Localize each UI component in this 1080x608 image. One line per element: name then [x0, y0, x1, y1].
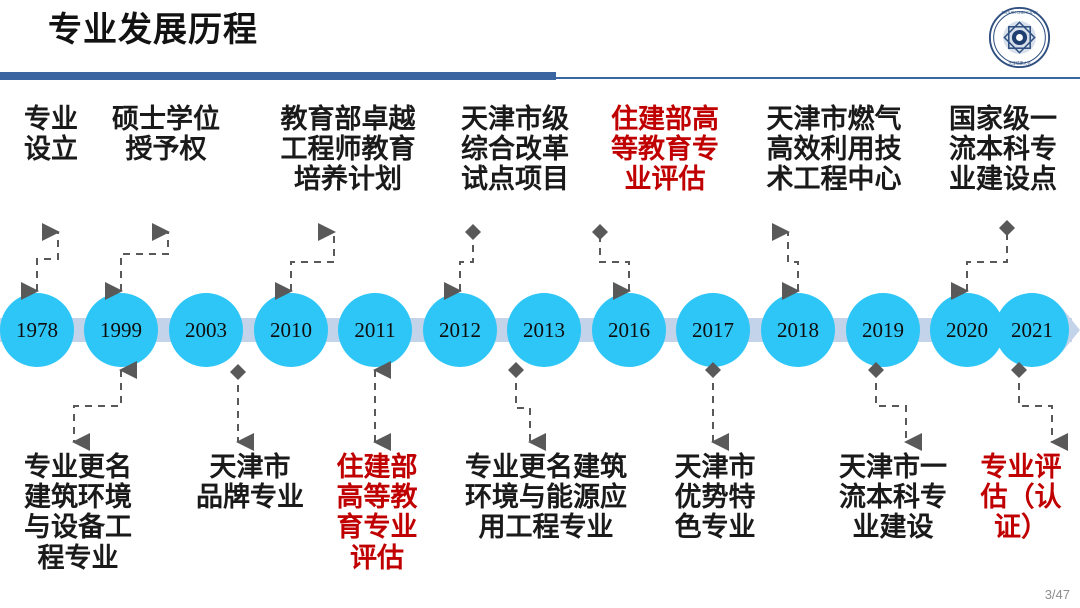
- label-2018-top: 天津市燃气 高效利用技 术工程中心: [748, 104, 920, 195]
- label-1999-top: 硕士学位 授予权: [96, 104, 236, 164]
- year-label-2013[interactable]: 2013: [504, 320, 584, 341]
- page-number: 3/47: [1045, 587, 1070, 602]
- connector-top-2010: [291, 232, 334, 291]
- label-1978-top: 专业 设立: [6, 104, 96, 164]
- connector-bottom-1999: [74, 370, 121, 442]
- year-label-2021[interactable]: 2021: [992, 320, 1072, 341]
- title-divider-thin: [556, 77, 1080, 79]
- timeline-circles: [0, 293, 1069, 367]
- label-2011-bottom: 住建部 高等教 育专业 评估: [326, 452, 428, 573]
- slide-canvas: 专业发展历程 TIANJIN CHENGJIAN 天津城建大学 3/47: [0, 0, 1080, 608]
- connector-top-1999: [121, 232, 168, 291]
- node-circle-2012: [423, 293, 497, 367]
- university-seal-logo: TIANJIN CHENGJIAN 天津城建大学: [988, 6, 1051, 69]
- svg-text:TIANJIN CHENGJIAN: TIANJIN CHENGJIAN: [1001, 11, 1038, 15]
- title-divider-thick: [0, 72, 556, 80]
- connector-bottom-2019: [876, 370, 906, 442]
- year-label-2020[interactable]: 2020: [927, 320, 1007, 341]
- svg-text:天津城建大学: 天津城建大学: [1008, 61, 1031, 66]
- connector-bottom-2021: [1019, 370, 1052, 442]
- year-label-2012[interactable]: 2012: [420, 320, 500, 341]
- node-circle-2003: [169, 293, 243, 367]
- label-2021-bottom: 专业评 估（认 证）: [966, 452, 1076, 543]
- node-circle-2020: [930, 293, 1004, 367]
- label-1999-bottom: 专业更名 建筑环境 与设备工 程专业: [4, 452, 152, 573]
- label-2010-bottom: 天津市 品牌专业: [186, 452, 314, 512]
- connector-bottom-2013: [516, 370, 530, 442]
- connector-top-2016: [600, 232, 629, 291]
- label-2017-bottom: 天津市 优势特 色专业: [664, 452, 766, 543]
- connector-top-2020: [967, 228, 1007, 291]
- node-circle-2019: [846, 293, 920, 367]
- node-circle-1978: [0, 293, 74, 367]
- label-2012-top: 天津市级 综合改革 试点项目: [444, 104, 586, 195]
- node-circle-2018: [761, 293, 835, 367]
- connector-top-2018: [788, 232, 798, 291]
- node-circle-2016: [592, 293, 666, 367]
- node-circle-2017: [676, 293, 750, 367]
- year-label-2003[interactable]: 2003: [166, 320, 246, 341]
- year-label-2016[interactable]: 2016: [589, 320, 669, 341]
- connector-top-1978: [37, 232, 58, 291]
- year-label-1999[interactable]: 1999: [81, 320, 161, 341]
- label-2010-top: 教育部卓越 工程师教育 培养计划: [262, 104, 434, 195]
- node-circle-2021: [995, 293, 1069, 367]
- page-title: 专业发展历程: [48, 12, 258, 49]
- node-circle-2010: [254, 293, 328, 367]
- label-2013-bottom: 专业更名建筑 环境与能源应 用工程专业: [444, 452, 648, 543]
- node-circle-2013: [507, 293, 581, 367]
- year-label-1978[interactable]: 1978: [0, 320, 77, 341]
- label-2016-top: 住建部高 等教育专 业评估: [592, 104, 738, 195]
- timeline-bar: [0, 308, 1080, 352]
- year-label-2017[interactable]: 2017: [673, 320, 753, 341]
- connector-top-2012: [460, 232, 473, 291]
- year-label-2010[interactable]: 2010: [251, 320, 331, 341]
- label-2019-bottom: 天津市一 流本科专 业建设: [826, 452, 960, 543]
- label-2020-top: 国家级一 流本科专 业建设点: [930, 104, 1076, 195]
- year-label-2019[interactable]: 2019: [843, 320, 923, 341]
- node-circle-2011: [338, 293, 412, 367]
- year-label-2018[interactable]: 2018: [758, 320, 838, 341]
- node-circle-1999: [84, 293, 158, 367]
- year-label-2011[interactable]: 2011: [335, 320, 415, 341]
